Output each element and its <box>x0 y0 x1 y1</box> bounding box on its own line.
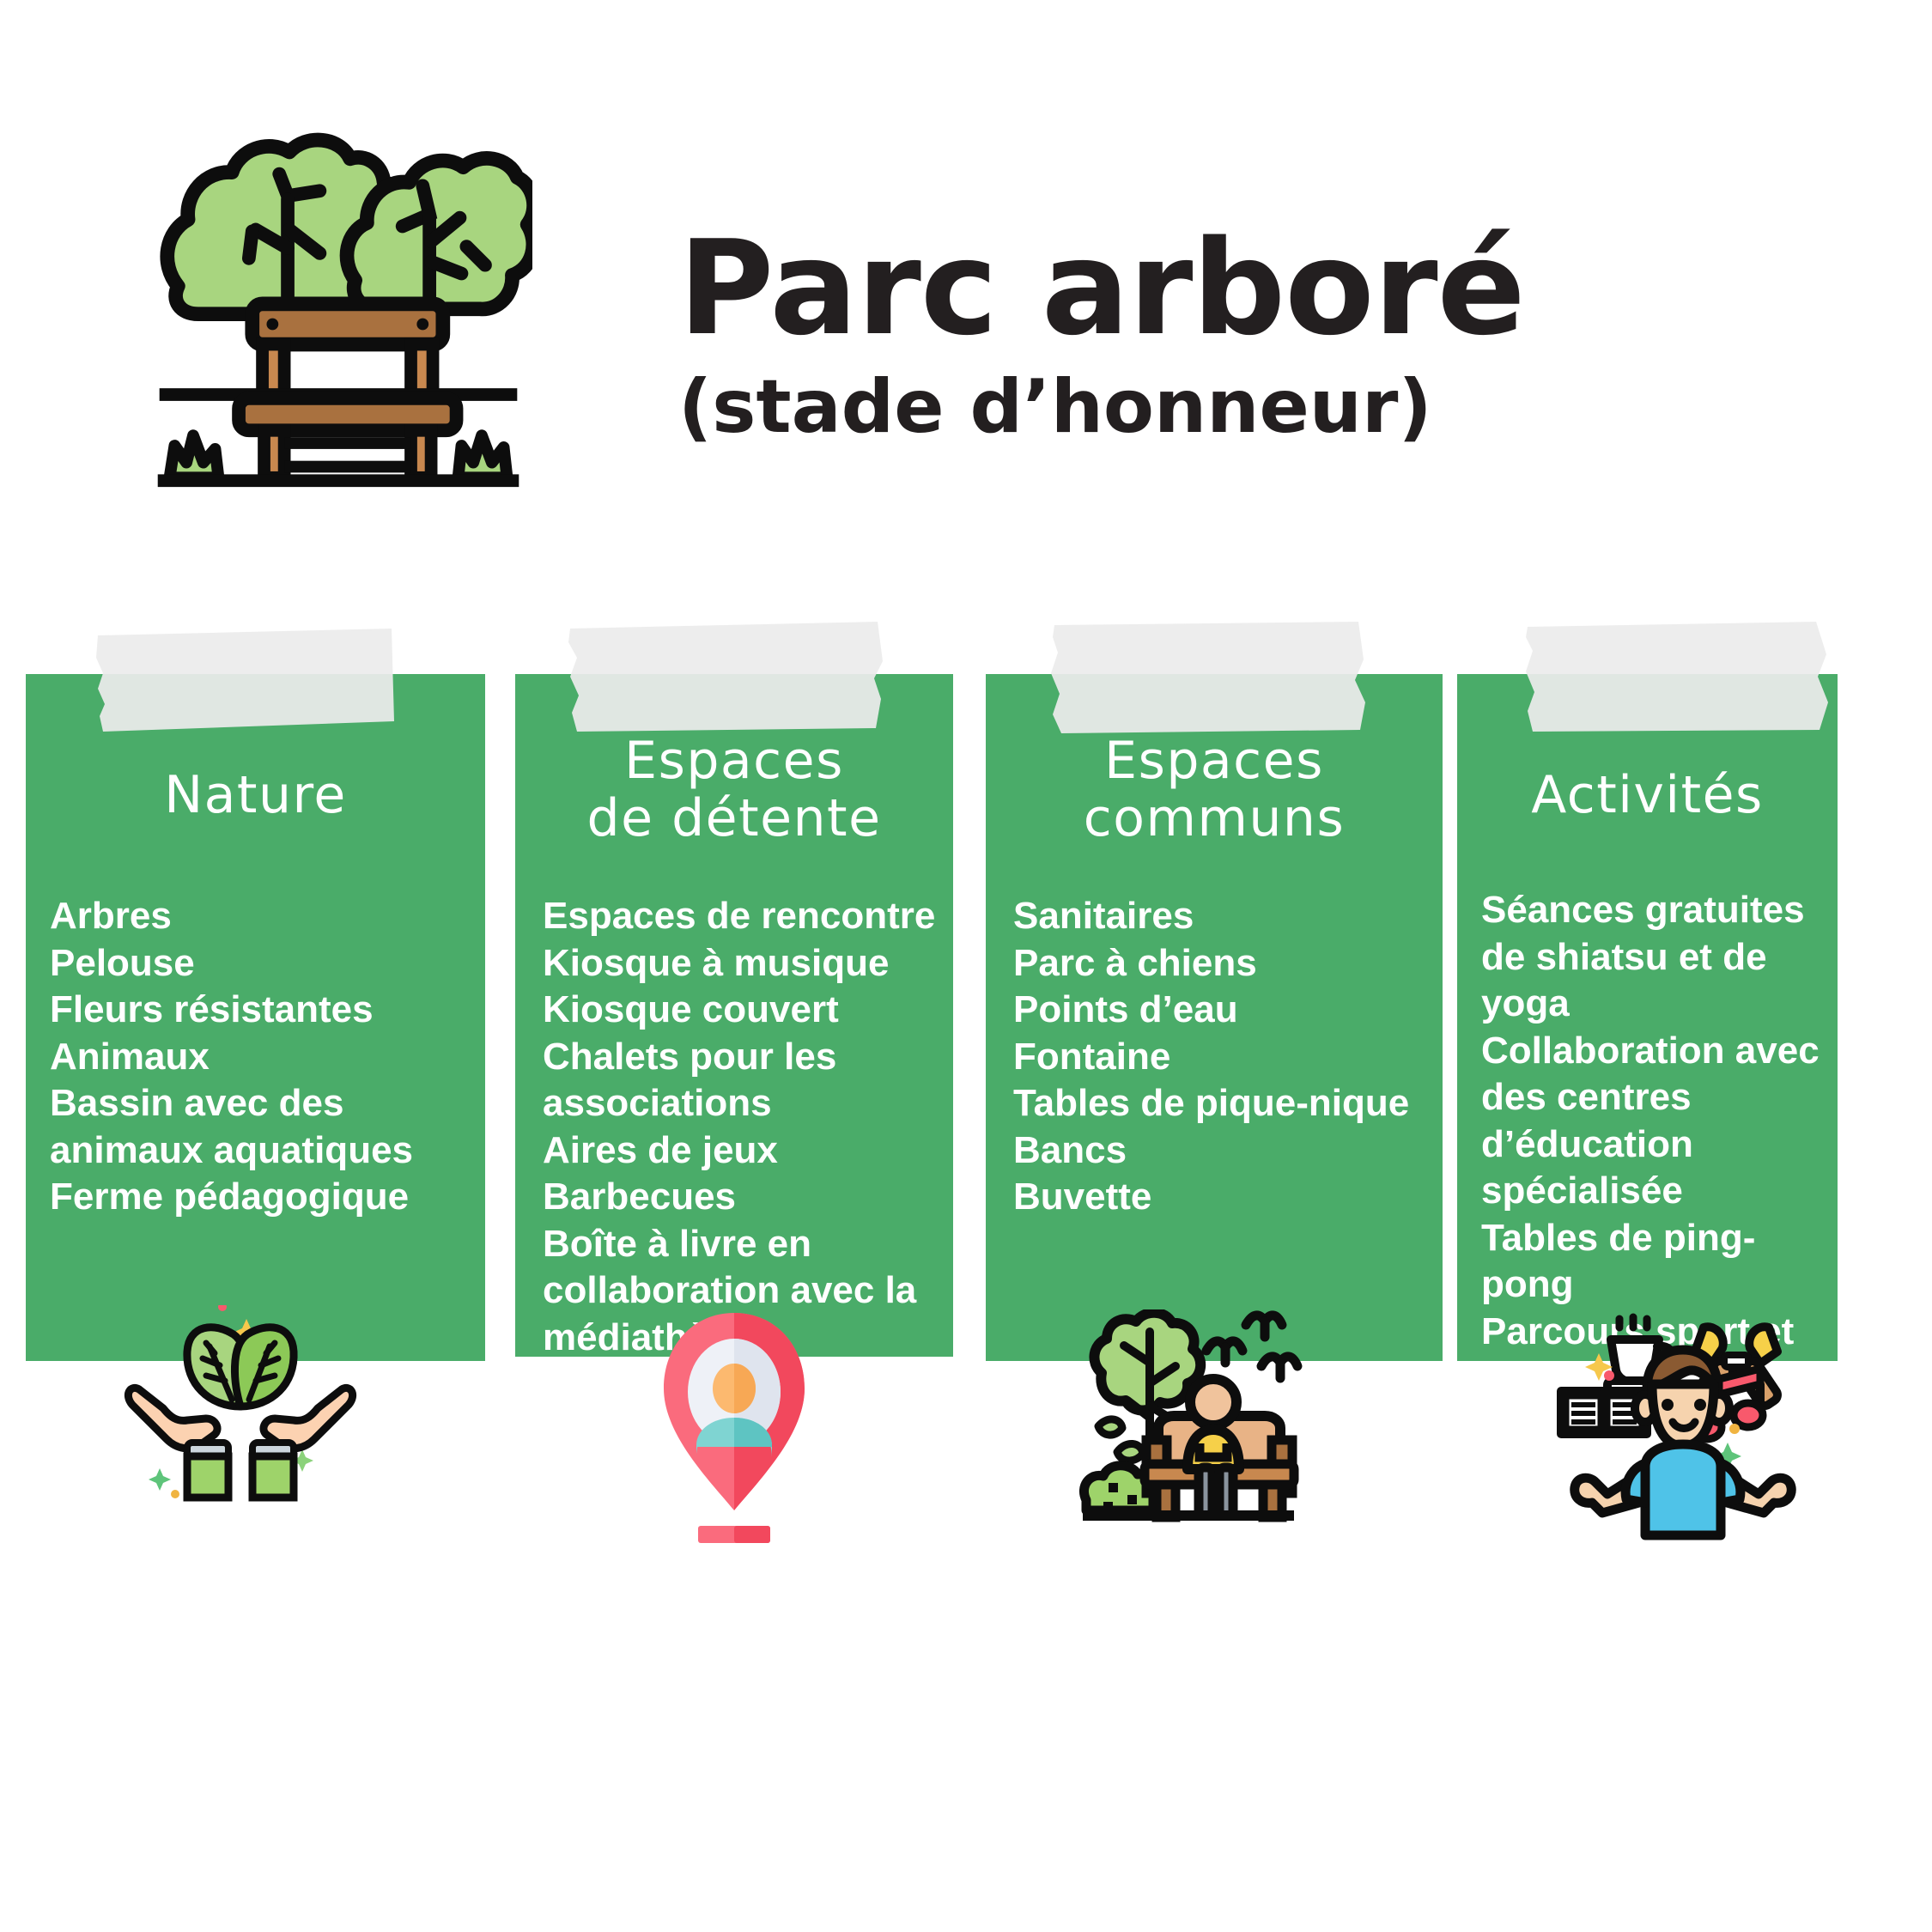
list-item: Pelouse <box>50 940 468 987</box>
list-item: Ferme pédagogique <box>50 1174 468 1221</box>
card-espaces-communs[interactable]: Espaces communs Sanitaires Parc à chiens… <box>986 674 1443 1361</box>
list-item: Fontaine <box>1013 1034 1431 1081</box>
heading-line-2: de détente <box>531 790 938 848</box>
list-item: Tables de ping-pong <box>1481 1215 1827 1309</box>
list-item: Arbres <box>50 893 468 940</box>
card-grid: Nature Arbres Pelouse Fleurs résistantes… <box>0 0 1932 1932</box>
list-item: Parc à chiens <box>1013 940 1431 987</box>
card-heading-activites: Activités <box>1457 767 1838 824</box>
card-list-nature: Arbres Pelouse Fleurs résistantes Animau… <box>50 893 468 1221</box>
card-heading-espaces-de-detente: Espaces de détente <box>515 732 953 848</box>
card-espaces-de-detente[interactable]: Espaces de détente Espaces de rencontre … <box>515 674 953 1357</box>
heading-line-1: Espaces <box>1001 732 1427 790</box>
list-item: Collaboration avec des centres d’éducati… <box>1481 1028 1827 1215</box>
list-item: Séances gratuites de shiatsu et de yoga <box>1481 887 1827 1028</box>
list-item: Kiosque à musique <box>543 940 941 987</box>
list-item: Espaces de rencontre <box>543 893 941 940</box>
list-item: Kiosque couvert <box>543 987 941 1034</box>
list-item: Buvette <box>1013 1174 1431 1221</box>
list-item: Aires de jeux <box>543 1127 941 1175</box>
list-item: Points d’eau <box>1013 987 1431 1034</box>
list-item: Bassin avec des animaux aquatiques <box>50 1080 468 1174</box>
heading-line-1: Espaces <box>531 732 938 790</box>
heading-line-2: communs <box>1001 790 1427 848</box>
person-activities-icon <box>1547 1298 1805 1543</box>
list-item: Tables de pique-nique <box>1013 1080 1431 1127</box>
card-nature[interactable]: Nature Arbres Pelouse Fleurs résistantes… <box>26 674 485 1361</box>
list-item: Animaux <box>50 1034 468 1081</box>
card-heading-nature: Nature <box>26 767 485 824</box>
location-pin-person-icon <box>657 1309 811 1558</box>
hands-holding-leaves-icon <box>120 1305 361 1550</box>
list-item: Sanitaires <box>1013 893 1431 940</box>
card-heading-espaces-communs: Espaces communs <box>986 732 1443 848</box>
card-list-espaces-de-detente: Espaces de rencontre Kiosque à musique K… <box>543 893 941 1361</box>
list-item: Barbecues <box>543 1174 941 1221</box>
list-item: Fleurs résistantes <box>50 987 468 1034</box>
list-item: Bancs <box>1013 1127 1431 1175</box>
list-item: Chalets pour les associations <box>543 1034 941 1127</box>
park-bench-person-icon <box>1078 1309 1327 1550</box>
card-activites[interactable]: Activités Séances gratuites de shiatsu e… <box>1457 674 1838 1361</box>
infographic-page: Parc arboré (stade d’honneur) Nature Arb… <box>0 0 1932 1932</box>
card-list-espaces-communs: Sanitaires Parc à chiens Points d’eau Fo… <box>1013 893 1431 1221</box>
